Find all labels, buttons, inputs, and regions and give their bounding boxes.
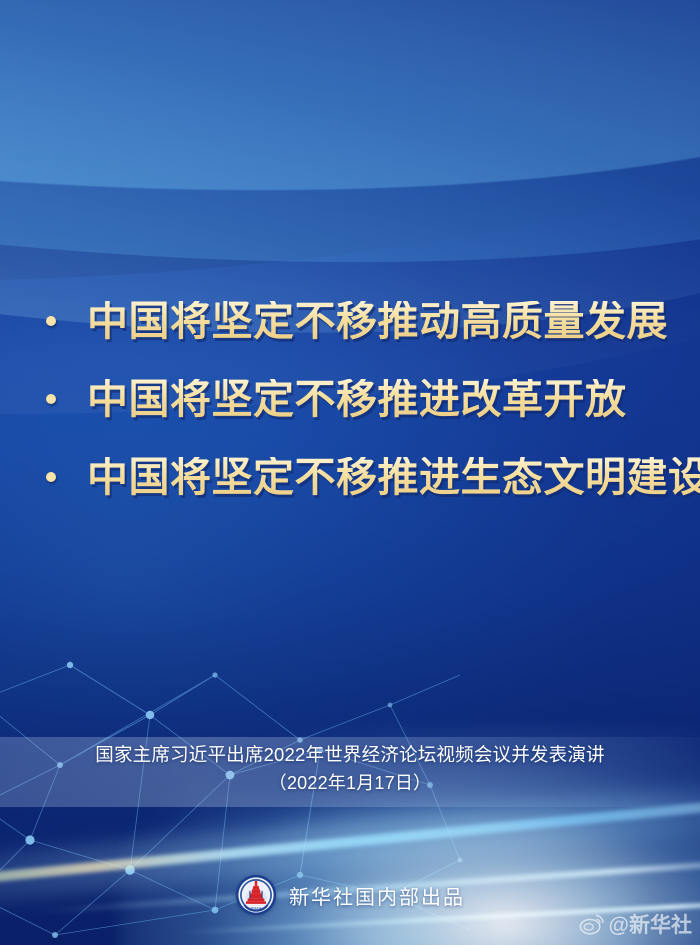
- bullet-row: 中国将坚定不移推进生态文明建设: [0, 438, 700, 516]
- bullet-row: 中国将坚定不移推动高质量发展: [0, 282, 700, 360]
- caption-block: 国家主席习近平出席2022年世界经济论坛视频会议并发表演讲 （2022年1月17…: [0, 740, 700, 798]
- caption-line-2: （2022年1月17日）: [0, 769, 700, 798]
- bullet-text: 中国将坚定不移推进改革开放: [87, 379, 627, 420]
- weibo-handle: @新华社: [609, 909, 692, 939]
- bullet-row: 中国将坚定不移推进改革开放: [0, 360, 700, 438]
- bullet-dot-icon: [46, 394, 56, 404]
- bullet-dot-icon: [46, 316, 56, 326]
- bullet-text: 中国将坚定不移推进生态文明建设: [87, 457, 700, 498]
- svg-text:XINHUA: XINHUA: [250, 906, 261, 910]
- footer-credit-text: 新华社国内部出品: [289, 881, 465, 910]
- bullet-text: 中国将坚定不移推动高质量发展: [87, 301, 668, 342]
- bullet-dot-icon: [46, 472, 56, 482]
- weibo-watermark: @新华社: [579, 909, 692, 939]
- xinhua-emblem-icon: XINHUA: [235, 874, 277, 916]
- weibo-icon: [579, 913, 605, 935]
- poster-canvas: 中国将坚定不移推动高质量发展 中国将坚定不移推进改革开放 中国将坚定不移推进生态…: [0, 0, 700, 945]
- caption-line-1: 国家主席习近平出席2022年世界经济论坛视频会议并发表演讲: [0, 740, 700, 769]
- headline-bullet-list: 中国将坚定不移推动高质量发展 中国将坚定不移推进改革开放 中国将坚定不移推进生态…: [0, 282, 700, 516]
